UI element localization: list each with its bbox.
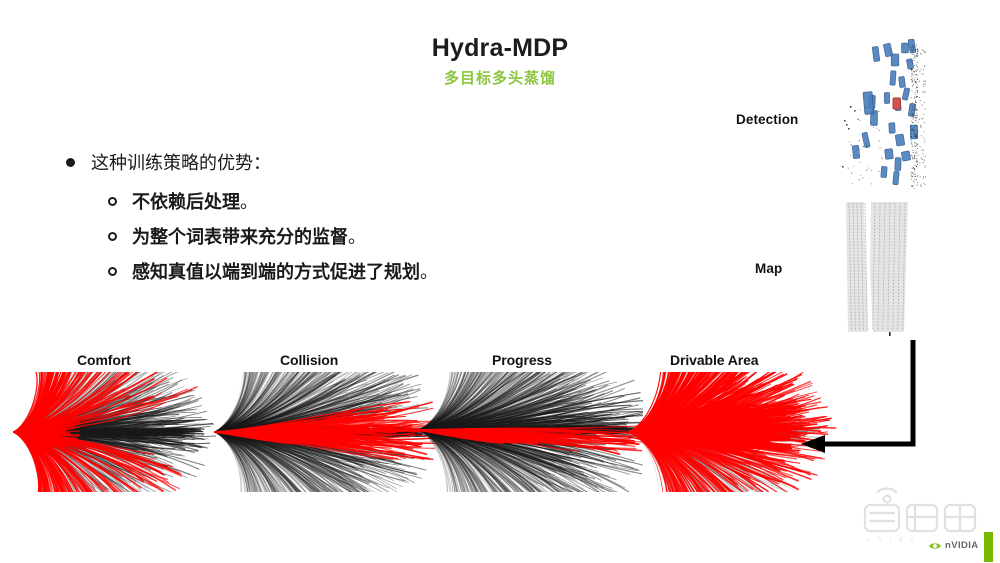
nvidia-eye-icon — [928, 541, 942, 551]
bullet-level2-label: 不依赖后处理。 — [132, 189, 258, 215]
bullet-level1: 这种训练策略的优势： — [66, 150, 536, 177]
trajectory-plot-progress — [413, 372, 643, 492]
metric-label-collision: Collision — [280, 352, 338, 368]
bullet-tail: 。 — [240, 192, 258, 212]
bullet-tail: 。 — [420, 262, 438, 282]
map-visualization — [842, 198, 926, 336]
metric-label-comfort: Comfort — [77, 352, 131, 368]
bullet-list: 这种训练策略的优势： 不依赖后处理。 为整个词表带来充分的监督。 感知真值以端到… — [66, 150, 536, 294]
map-panel-label: Map — [755, 261, 782, 276]
map-to-drivable-arrow-icon — [795, 336, 925, 456]
bullet-emphasis: 不依赖后处理 — [132, 192, 240, 212]
bullet-level2: 为整个词表带来充分的监督。 — [108, 224, 536, 250]
filled-disc-icon — [66, 158, 75, 167]
metric-label-progress: Progress — [492, 352, 552, 368]
hollow-circle-icon — [108, 232, 117, 241]
bullet-level2-label: 感知真值以端到端的方式促进了规划。 — [132, 259, 438, 285]
bullet-level2: 不依赖后处理。 — [108, 189, 536, 215]
bullet-sublist: 不依赖后处理。 为整个词表带来充分的监督。 感知真值以端到端的方式促进了规划。 — [108, 189, 536, 285]
bullet-level1-label: 这种训练策略的优势： — [91, 150, 271, 177]
presentation-slide: Hydra-MDP 多目标多头蒸馏 这种训练策略的优势： 不依赖后处理。 为整个… — [0, 0, 1000, 563]
trajectory-plot-comfort — [0, 372, 230, 492]
nvidia-logo: nVIDIA — [928, 540, 979, 551]
metric-label-drivable-area: Drivable Area — [670, 352, 758, 368]
zhidx-watermark-logo: z h i d x — [855, 483, 980, 545]
hollow-circle-icon — [108, 267, 117, 276]
trajectory-plot-collision — [205, 372, 435, 492]
detection-visualization — [826, 36, 930, 192]
accent-bar — [984, 532, 993, 562]
svg-text:z h i d x: z h i d x — [867, 536, 916, 543]
bullet-tail: 。 — [348, 227, 366, 247]
bullet-level2: 感知真值以端到端的方式促进了规划。 — [108, 259, 536, 285]
bullet-emphasis: 感知真值以端到端的方式促进了规划 — [132, 262, 420, 282]
hollow-circle-icon — [108, 197, 117, 206]
nvidia-wordmark: nVIDIA — [945, 540, 979, 551]
bullet-level2-label: 为整个词表带来充分的监督。 — [132, 224, 366, 250]
bullet-emphasis: 为整个词表带来充分的监督 — [132, 227, 348, 247]
detection-panel-label: Detection — [736, 112, 798, 127]
